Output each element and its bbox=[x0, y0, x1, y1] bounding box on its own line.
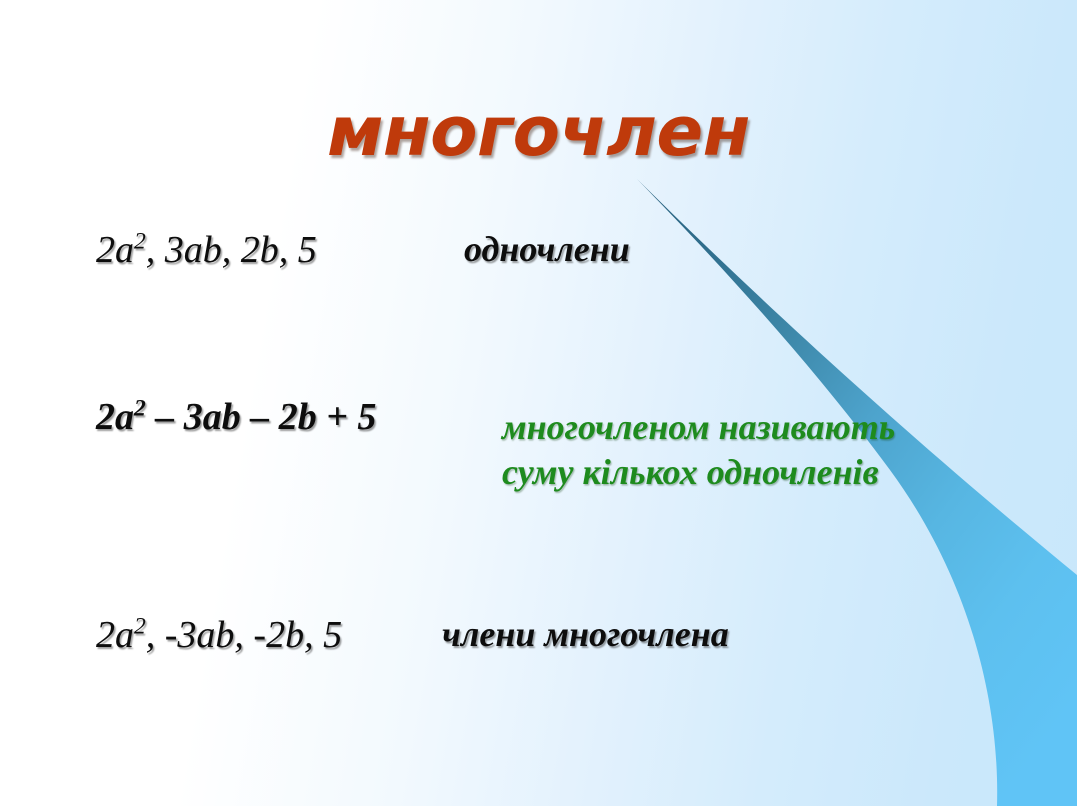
members-expression: 2a2, -3ab, -2b, 5 bbox=[96, 614, 342, 656]
members-label: члени многочлена bbox=[442, 613, 729, 655]
polynomial-definition: многочленом називають суму кількох одноч… bbox=[502, 405, 895, 496]
monomials-expression: 2a2, 3ab, 2b, 5 bbox=[96, 229, 317, 271]
row-polynomial: 2a2 – 3ab – 2b + 5 многочленом називають… bbox=[0, 395, 1077, 496]
polynomial-expression-cell: 2a2 – 3ab – 2b + 5 bbox=[0, 395, 400, 439]
polynomial-expression-exponent: 2 bbox=[134, 395, 146, 421]
row-monomials: 2a2, 3ab, 2b, 5 одночлени bbox=[0, 228, 1077, 272]
monomials-expression-cell: 2a2, 3ab, 2b, 5 bbox=[0, 228, 380, 272]
members-expression-cell: 2a2, -3ab, -2b, 5 bbox=[0, 613, 380, 657]
row-members: 2a2, -3ab, -2b, 5 члени многочлена bbox=[0, 613, 1077, 657]
polynomial-expression: 2a2 – 3ab – 2b + 5 bbox=[96, 396, 376, 438]
monomials-expression-exponent: 2 bbox=[134, 228, 146, 254]
monomials-expression-rest: , 3ab, 2b, 5 bbox=[146, 229, 317, 271]
page-title: многочлен bbox=[0, 92, 1077, 172]
monomials-expression-base: 2a bbox=[96, 229, 134, 271]
polynomial-expression-rest: – 3ab – 2b + 5 bbox=[146, 396, 377, 438]
slide-canvas: многочлен 2a2, 3ab, 2b, 5 одночлени 2a2 … bbox=[0, 0, 1077, 806]
members-expression-exponent: 2 bbox=[134, 613, 146, 639]
polynomial-expression-base: 2a bbox=[96, 396, 134, 438]
polynomial-definition-line-2: суму кількох одночленів bbox=[502, 450, 895, 495]
members-expression-rest: , -3ab, -2b, 5 bbox=[146, 614, 342, 656]
members-expression-base: 2a bbox=[96, 614, 134, 656]
polynomial-definition-line-1: многочленом називають bbox=[502, 405, 895, 450]
monomials-label: одночлени bbox=[464, 228, 630, 270]
